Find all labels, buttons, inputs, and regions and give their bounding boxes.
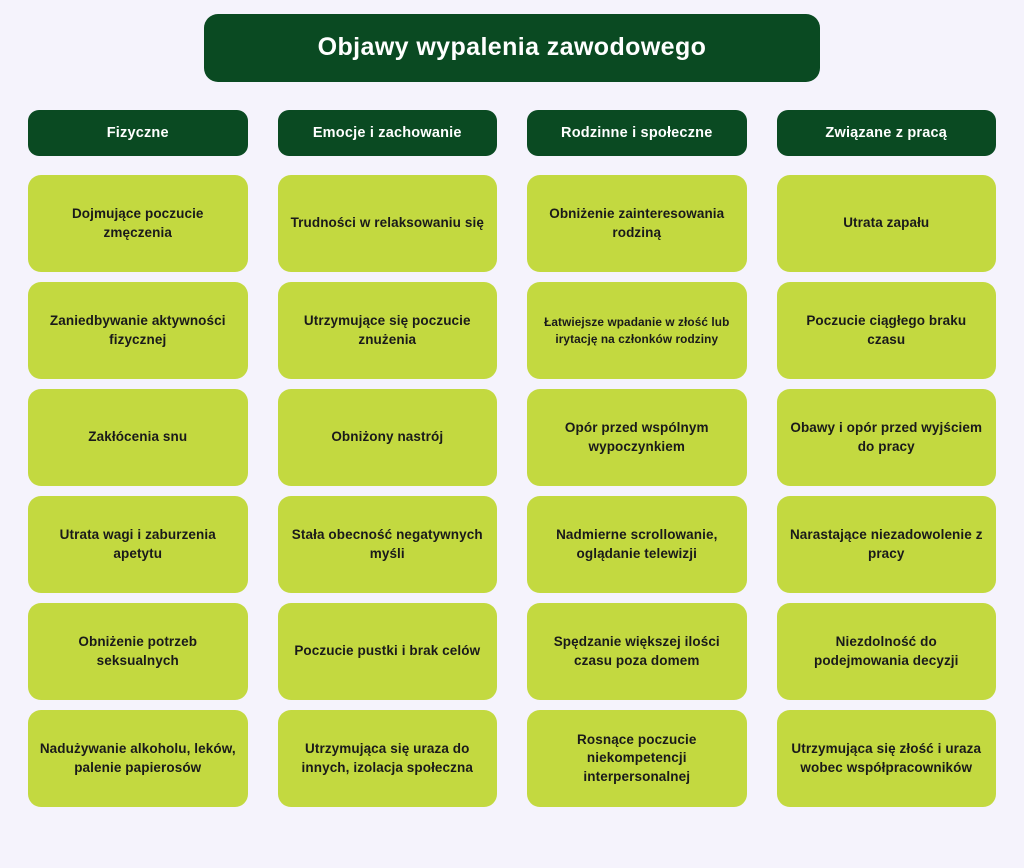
symptom-label: Obawy i opór przed wyjściem do pracy xyxy=(788,419,986,455)
symptom-cell: Utrzymująca się uraza do innych, izolacj… xyxy=(278,710,498,807)
symptom-cell: Nadużywanie alkoholu, leków, palenie pap… xyxy=(28,710,248,807)
symptom-cell: Opór przed wspólnym wypoczynkiem xyxy=(527,389,747,486)
symptom-label: Narastające niezadowolenie z pracy xyxy=(788,526,986,562)
column-header-fizyczne: Fizyczne xyxy=(28,110,248,156)
symptom-cell: Obawy i opór przed wyjściem do pracy xyxy=(777,389,997,486)
symptom-cell: Obniżenie potrzeb seksualnych xyxy=(28,603,248,700)
symptom-label: Nadużywanie alkoholu, leków, palenie pap… xyxy=(39,740,237,776)
symptom-cell: Nadmierne scrollowanie, oglądanie telewi… xyxy=(527,496,747,593)
symptom-label: Utrzymująca się złość i uraza wobec wspó… xyxy=(788,740,986,776)
column-header-zwiazane-z-praca: Związane z pracą xyxy=(777,110,997,156)
symptom-label: Obniżony nastrój xyxy=(331,428,443,446)
column-fizyczne: Fizyczne Dojmujące poczucie zmęczenia Za… xyxy=(28,110,248,807)
symptom-label: Niezdolność do podejmowania decyzji xyxy=(788,633,986,669)
page-title: Objawy wypalenia zawodowego xyxy=(318,34,707,62)
symptom-grid: Fizyczne Dojmujące poczucie zmęczenia Za… xyxy=(28,110,996,807)
column-emocje-i-zachowanie: Emocje i zachowanie Trudności w relaksow… xyxy=(278,110,498,807)
symptom-cell: Utrzymująca się złość i uraza wobec wspó… xyxy=(777,710,997,807)
symptom-cell: Obniżenie zainteresowania rodziną xyxy=(527,175,747,272)
symptom-cell: Poczucie ciągłego braku czasu xyxy=(777,282,997,379)
poster-title-bar: Objawy wypalenia zawodowego xyxy=(204,14,820,82)
column-zwiazane-z-praca: Związane z pracą Utrata zapału Poczucie … xyxy=(777,110,997,807)
symptom-label: Utrzymujące się poczucie znużenia xyxy=(289,312,487,348)
column-header-rodzinne-i-spoleczne: Rodzinne i społeczne xyxy=(527,110,747,156)
symptom-label: Poczucie pustki i brak celów xyxy=(294,642,480,660)
column-header-label: Emocje i zachowanie xyxy=(313,125,462,142)
column-rodzinne-i-spoleczne: Rodzinne i społeczne Obniżenie zainteres… xyxy=(527,110,747,807)
symptom-label: Spędzanie większej ilości czasu poza dom… xyxy=(538,633,736,669)
symptom-label: Poczucie ciągłego braku czasu xyxy=(788,312,986,348)
symptom-cell: Spędzanie większej ilości czasu poza dom… xyxy=(527,603,747,700)
symptom-cell: Utrata zapału xyxy=(777,175,997,272)
symptom-label: Zaniedbywanie aktywności fizycznej xyxy=(39,312,237,348)
symptom-cell: Poczucie pustki i brak celów xyxy=(278,603,498,700)
symptom-label: Utrzymująca się uraza do innych, izolacj… xyxy=(289,740,487,776)
symptom-label: Obniżenie potrzeb seksualnych xyxy=(39,633,237,669)
symptom-label: Nadmierne scrollowanie, oglądanie telewi… xyxy=(538,526,736,562)
infographic-poster: Objawy wypalenia zawodowego Fizyczne Doj… xyxy=(0,0,1024,868)
column-header-emocje-i-zachowanie: Emocje i zachowanie xyxy=(278,110,498,156)
column-header-label: Fizyczne xyxy=(107,125,169,142)
column-header-label: Związane z pracą xyxy=(825,125,947,142)
symptom-label: Trudności w relaksowaniu się xyxy=(291,214,484,232)
symptom-cell: Niezdolność do podejmowania decyzji xyxy=(777,603,997,700)
symptom-cell: Obniżony nastrój xyxy=(278,389,498,486)
symptom-cell: Narastające niezadowolenie z pracy xyxy=(777,496,997,593)
symptom-label: Łatwiejsze wpadanie w złość lub irytację… xyxy=(538,314,736,347)
symptom-label: Zakłócenia snu xyxy=(88,428,187,446)
symptom-cell: Zakłócenia snu xyxy=(28,389,248,486)
symptom-label: Utrata wagi i zaburzenia apetytu xyxy=(39,526,237,562)
symptom-cell: Utrata wagi i zaburzenia apetytu xyxy=(28,496,248,593)
symptom-cell: Utrzymujące się poczucie znużenia xyxy=(278,282,498,379)
symptom-label: Stała obecność negatywnych myśli xyxy=(289,526,487,562)
symptom-label: Obniżenie zainteresowania rodziną xyxy=(538,205,736,241)
symptom-label: Utrata zapału xyxy=(843,214,929,232)
symptom-cell: Dojmujące poczucie zmęczenia xyxy=(28,175,248,272)
symptom-cell: Trudności w relaksowaniu się xyxy=(278,175,498,272)
symptom-cell: Zaniedbywanie aktywności fizycznej xyxy=(28,282,248,379)
symptom-label: Dojmujące poczucie zmęczenia xyxy=(39,205,237,241)
column-header-label: Rodzinne i społeczne xyxy=(561,125,712,142)
symptom-cell: Rosnące poczucie niekompetencji interper… xyxy=(527,710,747,807)
symptom-label: Rosnące poczucie niekompetencji interper… xyxy=(538,731,736,785)
symptom-cell: Stała obecność negatywnych myśli xyxy=(278,496,498,593)
symptom-label: Opór przed wspólnym wypoczynkiem xyxy=(538,419,736,455)
symptom-cell: Łatwiejsze wpadanie w złość lub irytację… xyxy=(527,282,747,379)
